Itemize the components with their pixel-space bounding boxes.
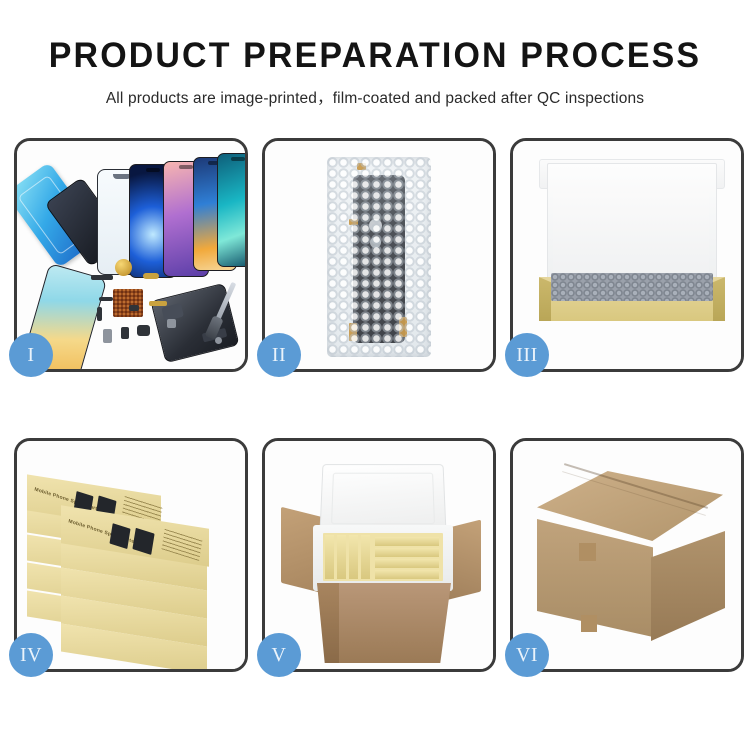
step-4-image: Mobile Phone Spare Parts Mobile Phone Sp… xyxy=(17,441,245,669)
notch-shape xyxy=(231,157,245,161)
flex-cable-part xyxy=(99,297,113,301)
bubble-wrap-bag xyxy=(327,157,431,357)
step-3-image xyxy=(513,141,741,369)
screw-part xyxy=(215,337,222,344)
step-numeral: I xyxy=(27,344,34,367)
bubble-wrapped-contents xyxy=(551,273,713,301)
notch-shape xyxy=(179,165,193,169)
step-1-image xyxy=(17,141,245,369)
vibration-motor-part xyxy=(115,259,132,276)
inner-box xyxy=(361,535,370,579)
sensor-part xyxy=(129,305,139,311)
step-badge-1: I xyxy=(9,333,53,377)
step-badge-3: III xyxy=(505,333,549,377)
process-step-1: I xyxy=(14,138,248,372)
step-numeral: V xyxy=(272,644,287,667)
step-2-image xyxy=(265,141,493,369)
product-preparation-infographic: PRODUCT PREPARATION PROCESS All products… xyxy=(0,0,750,750)
inner-box xyxy=(349,535,358,579)
phone-screen-teal xyxy=(217,153,245,267)
connector-part xyxy=(143,273,159,279)
page-subtitle: All products are image-printed，film-coat… xyxy=(0,86,750,108)
process-step-4: Mobile Phone Spare Parts Mobile Phone Sp… xyxy=(14,438,248,672)
flex-cable-part xyxy=(97,307,102,321)
copper-mesh-part xyxy=(113,289,143,317)
inner-box xyxy=(325,535,334,579)
step-badge-4: IV xyxy=(9,633,53,677)
tape-patch xyxy=(581,615,597,632)
antenna-part xyxy=(149,301,167,306)
box-stack: Mobile Phone Spare Parts Mobile Phone Sp… xyxy=(25,459,245,661)
inner-box xyxy=(375,559,439,568)
step-numeral: VI xyxy=(516,644,538,667)
tape-patch xyxy=(579,543,596,561)
page-title: PRODUCT PREPARATION PROCESS xyxy=(11,38,739,73)
step-numeral: IV xyxy=(20,644,42,667)
process-step-5: V xyxy=(262,438,496,672)
step-5-image xyxy=(265,441,493,669)
inner-box xyxy=(375,548,439,557)
step-numeral: III xyxy=(516,344,537,367)
step-badge-6: VI xyxy=(505,633,549,677)
inner-box xyxy=(337,535,346,579)
step-numeral: II xyxy=(272,344,286,367)
camera-module-part xyxy=(103,329,112,343)
inner-box xyxy=(375,537,439,546)
process-step-grid: I II xyxy=(14,138,736,672)
foam-sheet xyxy=(553,193,709,277)
speaker-part xyxy=(121,327,129,339)
foam-case-lid xyxy=(319,464,446,533)
header: PRODUCT PREPARATION PROCESS All products… xyxy=(0,0,750,108)
bubble-texture xyxy=(327,157,431,357)
step-badge-2: II xyxy=(257,333,301,377)
step-badge-5: V xyxy=(257,633,301,677)
process-step-6: VI xyxy=(510,438,744,672)
carton-side xyxy=(317,583,339,663)
process-step-3: III xyxy=(510,138,744,372)
process-step-2: II xyxy=(262,138,496,372)
carton-side-face xyxy=(651,531,725,641)
flex-cable-part xyxy=(91,275,113,280)
step-6-image xyxy=(513,441,741,669)
notch-shape xyxy=(146,168,160,172)
sim-tray-part xyxy=(167,319,176,328)
taptic-part xyxy=(137,325,150,336)
inner-box xyxy=(375,570,439,579)
inner-boxes-group xyxy=(323,533,443,581)
